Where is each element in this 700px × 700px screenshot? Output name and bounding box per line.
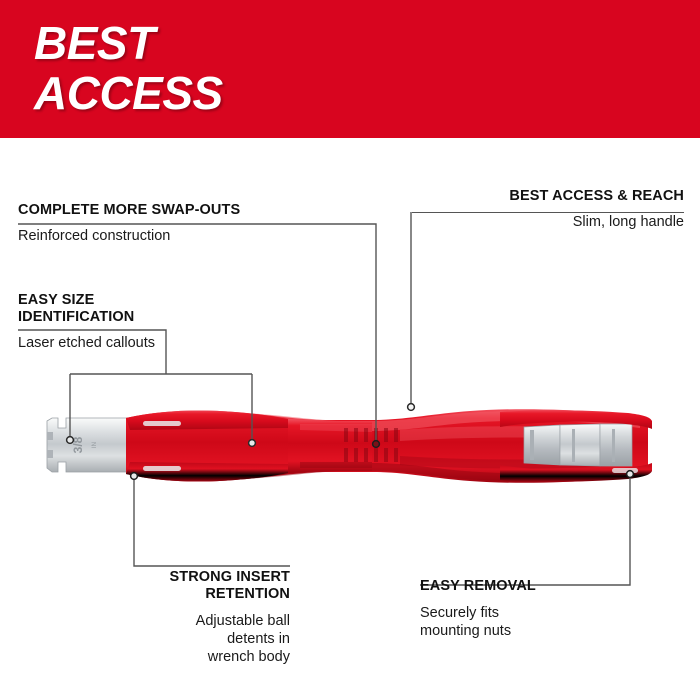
callout-heading-best-access-and-reach: BEST ACCESS & REACH <box>412 188 684 205</box>
right-socket-end <box>500 410 652 482</box>
inner-chrome-shaft: 7/16 <box>132 424 282 468</box>
svg-text:IN: IN <box>91 441 98 448</box>
callout-heading-complete-more-swap-outs: COMPLETE MORE SWAP-OUTS <box>18 202 378 219</box>
page-title: BEST ACCESS <box>34 18 223 118</box>
callout-strong-insert-retention: STRONG INSERT RETENTION Adjustable ball … <box>134 566 290 666</box>
callout-heading-strong-insert-retention: STRONG INSERT RETENTION <box>134 566 290 603</box>
leader-lines <box>18 212 630 585</box>
dot-complete-more-swap-outs <box>373 441 380 448</box>
callout-body-best-access-and-reach: Slim, long handle <box>412 205 684 231</box>
callout-easy-removal: EASY REMOVAL Securely fits mounting nuts <box>420 578 632 640</box>
header-banner: BEST ACCESS <box>0 0 700 138</box>
callout-heading-easy-size-identification: EASY SIZE IDENTIFICATION <box>18 292 218 326</box>
dot-best-access-and-reach <box>408 404 415 411</box>
red-wrench-body <box>126 409 648 483</box>
callout-heading-easy-removal: EASY REMOVAL <box>420 578 632 595</box>
infographic-page: BEST ACCESS <box>0 0 700 700</box>
leader-dots <box>67 404 634 480</box>
dot-strong-insert-retention <box>131 473 138 480</box>
grip-texture <box>344 428 398 462</box>
dot-size-marking-3-8 <box>67 437 74 444</box>
svg-text:3/8: 3/8 <box>71 436 85 453</box>
callout-complete-more-swap-outs: COMPLETE MORE SWAP-OUTS Reinforced const… <box>18 202 378 245</box>
ball-detent <box>182 432 210 460</box>
callout-best-access-and-reach: BEST ACCESS & REACH Slim, long handle <box>412 188 684 231</box>
svg-text:7/16: 7/16 <box>248 435 259 455</box>
rule-best-access-and-reach <box>412 212 684 213</box>
callout-body-easy-size-identification: Laser etched callouts <box>18 326 218 352</box>
callout-body-strong-insert-retention: Adjustable ball detents in wrench body <box>134 603 290 666</box>
dot-easy-removal <box>627 471 634 478</box>
callout-easy-size-identification: EASY SIZE IDENTIFICATION Laser etched ca… <box>18 292 218 352</box>
size-marking-hex: 7/16 <box>240 429 264 460</box>
callout-body-complete-more-swap-outs: Reinforced construction <box>18 219 378 245</box>
callout-body-easy-removal: Securely fits mounting nuts <box>420 595 632 640</box>
dot-size-marking-7-16 <box>249 440 256 447</box>
left-socket-end: 3/8 IN <box>47 418 138 472</box>
